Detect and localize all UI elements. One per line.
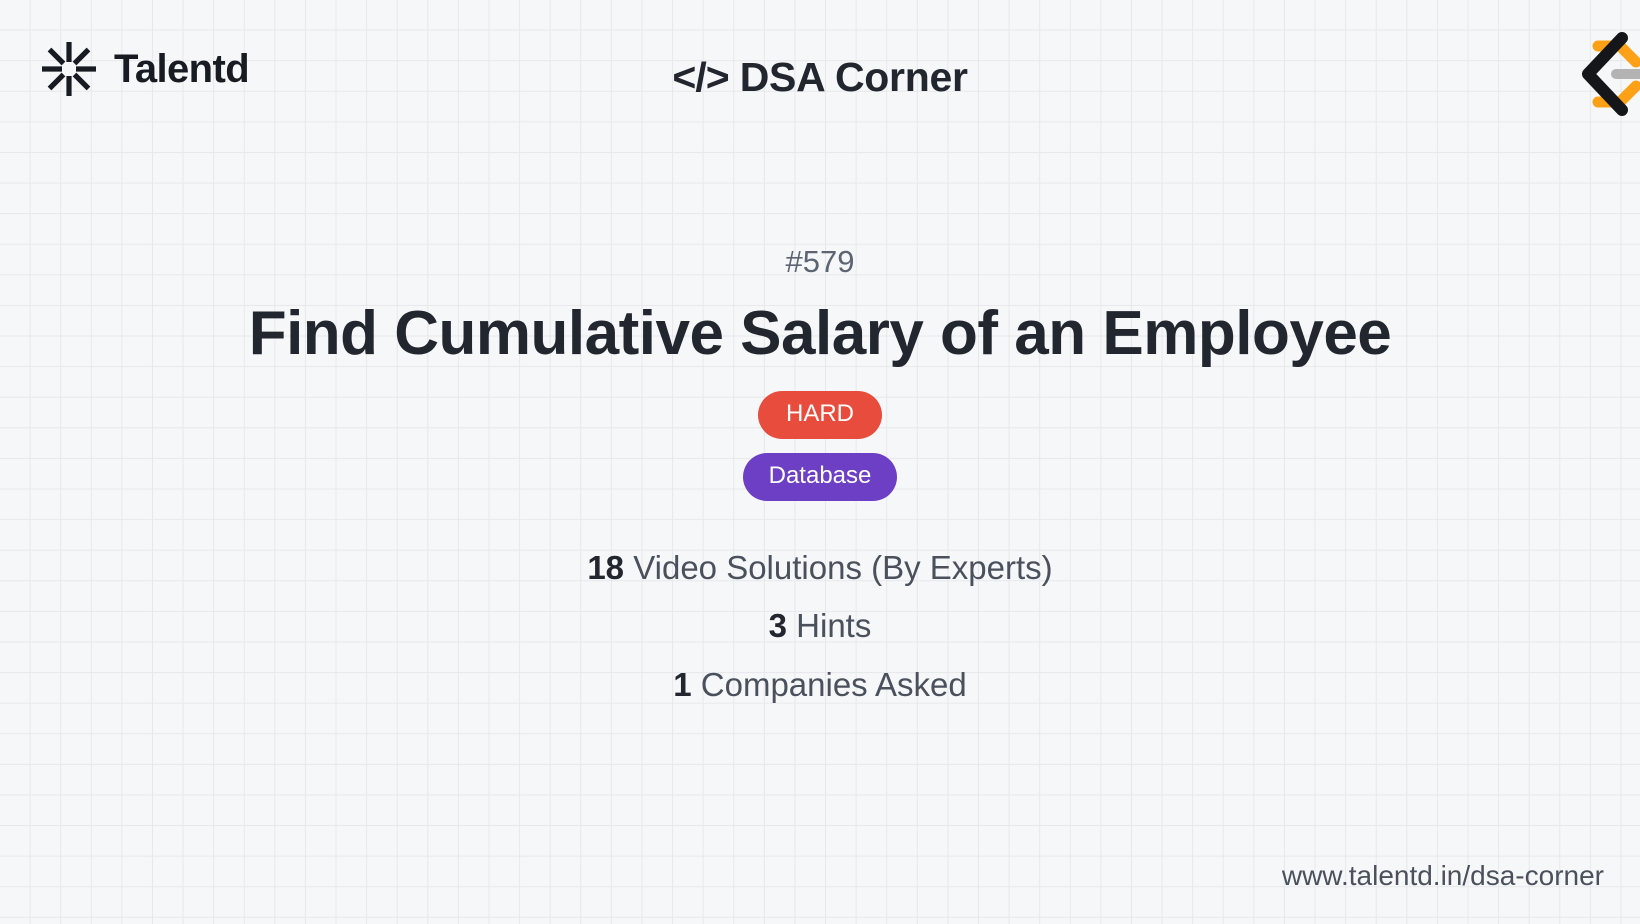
difficulty-badge: HARD bbox=[758, 391, 882, 439]
stat-hints: 3 Hints bbox=[769, 607, 872, 645]
stat-label: Video Solutions (By Experts) bbox=[633, 549, 1052, 586]
stat-companies-asked: 1 Companies Asked bbox=[673, 666, 967, 704]
stat-label: Companies Asked bbox=[701, 666, 967, 703]
stat-value: 18 bbox=[587, 549, 624, 586]
footer-url[interactable]: www.talentd.in/dsa-corner bbox=[1282, 862, 1604, 890]
stat-value: 3 bbox=[769, 607, 787, 644]
leetcode-logo-icon bbox=[1558, 28, 1640, 120]
page-title-text: DSA Corner bbox=[740, 54, 968, 100]
code-tag-icon: </> bbox=[672, 54, 728, 100]
problem-card: #579 Find Cumulative Salary of an Employ… bbox=[0, 150, 1640, 850]
page-header: Talentd </> DSA Corner bbox=[0, 0, 1640, 150]
stat-video-solutions: 18 Video Solutions (By Experts) bbox=[587, 549, 1052, 587]
problem-title: Find Cumulative Salary of an Employee bbox=[249, 299, 1392, 368]
page-title: </> DSA Corner bbox=[0, 54, 1640, 101]
problem-number: #579 bbox=[786, 245, 855, 279]
badge-group: HARD Database bbox=[743, 391, 898, 501]
problem-stats: 18 Video Solutions (By Experts) 3 Hints … bbox=[587, 549, 1052, 705]
stat-label: Hints bbox=[796, 607, 871, 644]
topic-badge: Database bbox=[743, 453, 898, 501]
stat-value: 1 bbox=[673, 666, 691, 703]
